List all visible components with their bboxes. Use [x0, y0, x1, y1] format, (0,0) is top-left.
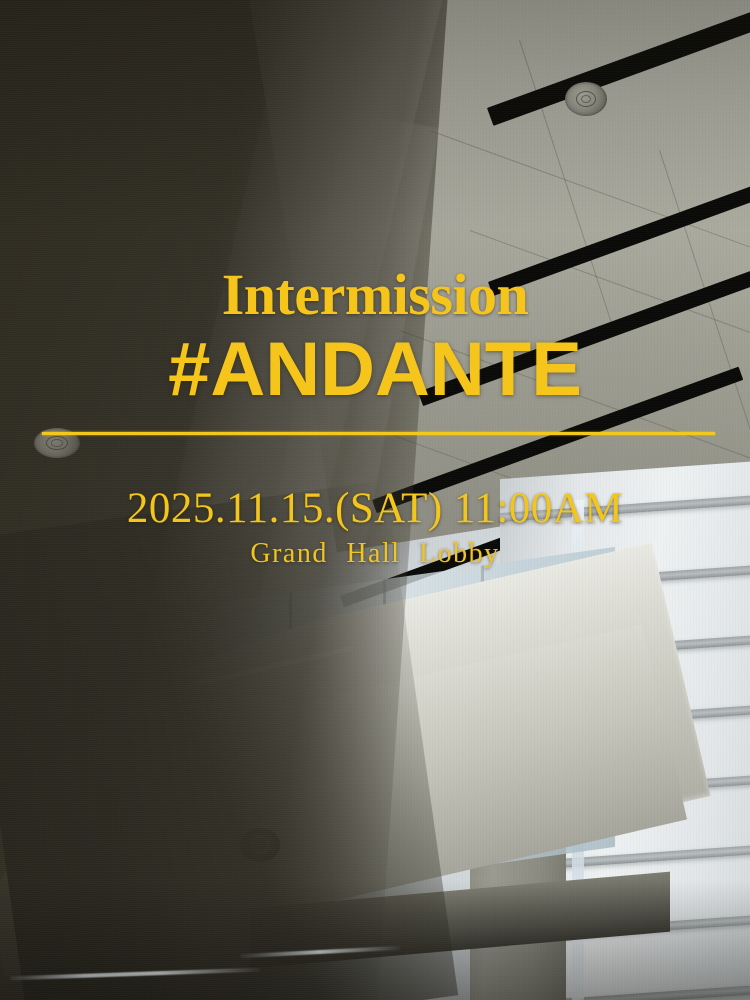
bottom-vignette	[0, 880, 750, 1000]
divider-rule	[42, 432, 715, 435]
event-poster: Intermission #ANDANTE 2025.11.15.(SAT) 1…	[0, 0, 750, 1000]
poster-title-line1: Intermission	[0, 266, 750, 324]
event-date-time: 2025.11.15.(SAT) 11:00AM	[0, 487, 750, 530]
top-vignette	[0, 0, 750, 230]
poster-title-line2: #ANDANTE	[0, 332, 750, 408]
event-venue: Grand Hall Lobby	[0, 540, 750, 568]
